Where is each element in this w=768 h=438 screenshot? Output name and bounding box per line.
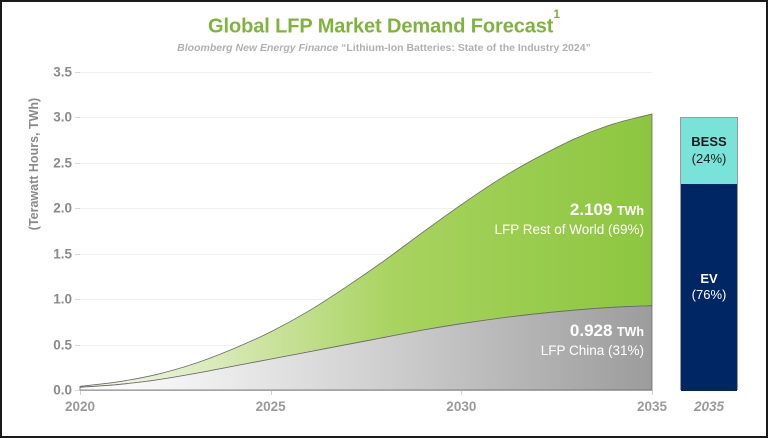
x-tick-label: 2030 [446, 399, 476, 414]
chart-subtitle: Bloomberg New Energy Finance “Lithium-Io… [2, 42, 766, 54]
y-axis-label: (Terawatt Hours, TWh) [27, 14, 41, 314]
y-tick-label: 0.5 [53, 337, 72, 352]
bar-category-label: 2035 [694, 399, 724, 414]
x-tick-label: 2020 [65, 399, 95, 414]
bar-segment-bess-label: BESS [691, 134, 726, 151]
x-tick-mark [271, 390, 272, 395]
title-text: Global LFP Market Demand Forecast [208, 16, 553, 38]
x-tick-mark [652, 390, 653, 395]
subtitle-report-title: “Lithium-Ion Batteries: State of the Ind… [341, 42, 591, 54]
y-tick-label: 1.5 [53, 246, 72, 261]
chart-figure: Global LFP Market Demand Forecast1 Bloom… [0, 0, 768, 438]
y-tick-label: 3.0 [53, 110, 72, 125]
bar-segment-ev-pct: (76%) [692, 287, 727, 304]
annotation-lfp-rest-of-world: 2.109 TWh LFP Rest of World (69%) [494, 199, 644, 239]
bar-segment-bess[interactable]: BESS (24%) [681, 118, 737, 183]
y-tick-label: 2.5 [53, 155, 72, 170]
subtitle-source: Bloomberg New Energy Finance [177, 42, 338, 54]
annotation-value-china: 0.928 [570, 321, 613, 340]
x-tick-label: 2035 [637, 399, 667, 414]
y-tick-label: 3.5 [53, 65, 72, 80]
annotation-label-row: LFP Rest of World (69%) [494, 222, 644, 239]
annotation-lfp-china: 0.928 TWh LFP China (31%) [541, 320, 644, 360]
stacked-bar-chart: BESS (24%) EV (76%) 2035 [680, 72, 738, 390]
annotation-unit-row: TWh [617, 204, 644, 218]
annotation-unit-china: TWh [617, 325, 644, 339]
annotation-label-china: LFP China (31%) [541, 343, 644, 360]
plot-area: 3.53.02.52.01.51.00.50.0 202020252030203… [80, 72, 652, 390]
bar-segment-ev-label: EV [700, 271, 717, 288]
x-tick-mark [461, 390, 462, 395]
x-tick-mark [80, 390, 81, 395]
x-tick-label: 2025 [256, 399, 286, 414]
y-tick-label: 2.0 [53, 201, 72, 216]
bar-segment-ev[interactable]: EV (76%) [681, 184, 737, 391]
y-tick-label: 1.0 [53, 292, 72, 307]
bar-segment-bess-pct: (24%) [692, 151, 727, 168]
title-footnote-marker: 1 [553, 7, 560, 21]
annotation-value-row: 2.109 [570, 200, 613, 219]
stacked-bar-2035: BESS (24%) EV (76%) [680, 117, 738, 390]
y-tick-label: 0.0 [53, 383, 72, 398]
page-title: Global LFP Market Demand Forecast1 [2, 14, 766, 39]
